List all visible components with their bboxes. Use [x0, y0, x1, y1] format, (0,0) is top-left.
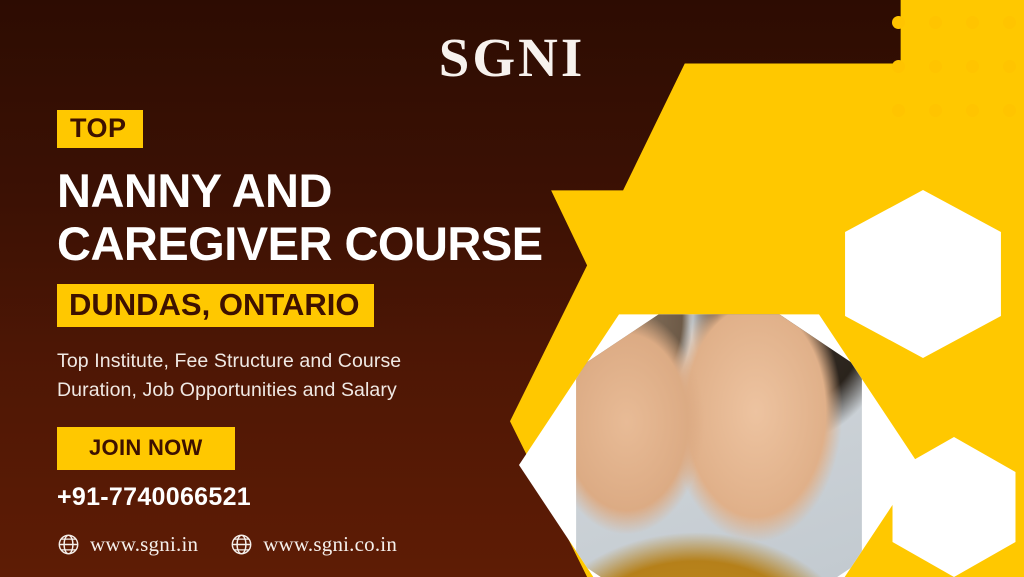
content-block: TOP NANNY AND CAREGIVER COURSE DUNDAS, O…: [57, 110, 657, 557]
headline-line-2: CAREGIVER COURSE: [57, 218, 657, 271]
globe-icon: [57, 533, 80, 556]
headline-line-1: NANNY AND: [57, 165, 657, 218]
location-badge: DUNDAS, ONTARIO: [57, 284, 374, 327]
subtitle-line-1: Top Institute, Fee Structure and Course: [57, 347, 657, 375]
website-item-secondary[interactable]: www.sgni.co.in: [230, 532, 397, 557]
grid-dot: [966, 104, 979, 117]
website-label: www.sgni.in: [90, 532, 198, 557]
promo-banner: SGNI TOP NANNY AND CAREGIVER COURSE DUND…: [0, 0, 1024, 577]
grid-dot: [1003, 104, 1016, 117]
grid-dot: [929, 104, 942, 117]
globe-icon: [230, 533, 253, 556]
website-list: www.sgni.in www.sgni.co.in: [57, 532, 657, 557]
website-item-primary[interactable]: www.sgni.in: [57, 532, 198, 557]
subtitle-line-2: Duration, Job Opportunities and Salary: [57, 376, 657, 404]
website-label: www.sgni.co.in: [263, 532, 397, 557]
page-title: NANNY AND CAREGIVER COURSE: [57, 165, 657, 270]
phone-number: +91-7740066521: [57, 483, 657, 512]
subtitle: Top Institute, Fee Structure and Course …: [57, 347, 657, 404]
grid-dot: [892, 104, 905, 117]
join-now-button[interactable]: JOIN NOW: [57, 427, 235, 470]
sgni-logo: SGNI: [0, 26, 1024, 89]
top-badge: TOP: [57, 110, 143, 148]
